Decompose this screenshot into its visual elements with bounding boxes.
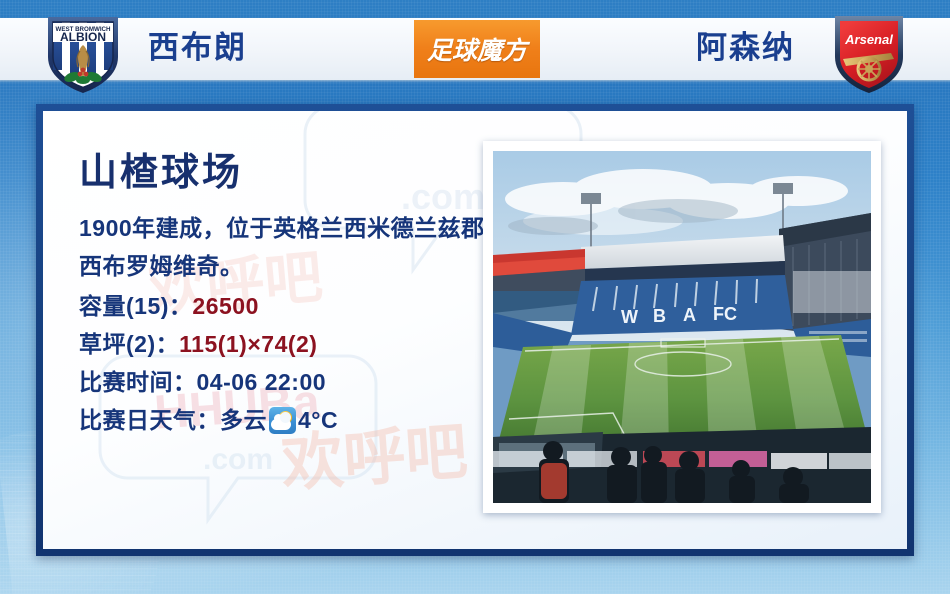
- stadium-photo-frame[interactable]: WB AFC: [483, 141, 881, 513]
- match-time-label: 比赛时间：: [79, 363, 197, 401]
- svg-text:W: W: [621, 307, 638, 327]
- svg-text:A: A: [683, 305, 696, 325]
- match-time-row: 比赛时间： 04-06 22:00: [79, 363, 519, 401]
- west-bromwich-albion-crest[interactable]: WEST BROMWICH ALBION: [42, 7, 124, 93]
- svg-text:ALBION: ALBION: [60, 30, 106, 44]
- away-team-name: 阿森纳: [696, 26, 795, 70]
- stadium-info-page: WEST BROMWICH ALBION 西布朗 足球魔方 阿森纳: [0, 0, 950, 594]
- card-body: .com HHUBa .com 欢呼吧 欢呼吧 山楂球场 1900年建成，位于英…: [43, 111, 907, 549]
- site-logo-text: 足球魔方: [427, 31, 527, 67]
- svg-text:FC: FC: [713, 304, 737, 324]
- weather-condition: 多云: [220, 401, 267, 439]
- pitch-label: 草坪(2)：: [79, 325, 179, 363]
- capacity-value: 26500: [192, 287, 258, 325]
- stadium-description: 1900年建成，位于英格兰西米德兰兹郡西布罗姆维奇。: [79, 209, 499, 285]
- stadium-title: 山楂球场: [79, 149, 519, 197]
- pitch-value: 115(1)×74(2): [179, 325, 317, 363]
- home-team-name: 西布朗: [148, 26, 247, 70]
- pitch-row: 草坪(2)： 115(1)×74(2): [79, 325, 519, 363]
- match-time-value: 04-06 22:00: [197, 363, 327, 401]
- weather-row: 比赛日天气： 多云 4°C: [79, 401, 519, 439]
- arsenal-crest[interactable]: Arsenal: [828, 7, 910, 93]
- stadium-info-block: 山楂球场 1900年建成，位于英格兰西米德兰兹郡西布罗姆维奇。 容量(15)： …: [79, 149, 519, 439]
- weather-temperature: 4°C: [298, 401, 338, 439]
- stadium-info-card: .com HHUBa .com 欢呼吧 欢呼吧 山楂球场 1900年建成，位于英…: [36, 104, 914, 556]
- capacity-row: 容量(15)： 26500: [79, 287, 519, 325]
- site-logo[interactable]: 足球魔方: [414, 20, 540, 78]
- capacity-label: 容量(15)：: [79, 287, 192, 325]
- match-header: WEST BROMWICH ALBION 西布朗 足球魔方 阿森纳: [0, 0, 950, 96]
- weather-label: 比赛日天气：: [79, 401, 220, 439]
- svg-text:Arsenal: Arsenal: [844, 32, 893, 47]
- svg-text:B: B: [653, 306, 666, 326]
- partly-cloudy-icon: [269, 407, 296, 434]
- svg-text:.com: .com: [203, 443, 273, 476]
- stadium-photo: WB AFC: [493, 151, 871, 503]
